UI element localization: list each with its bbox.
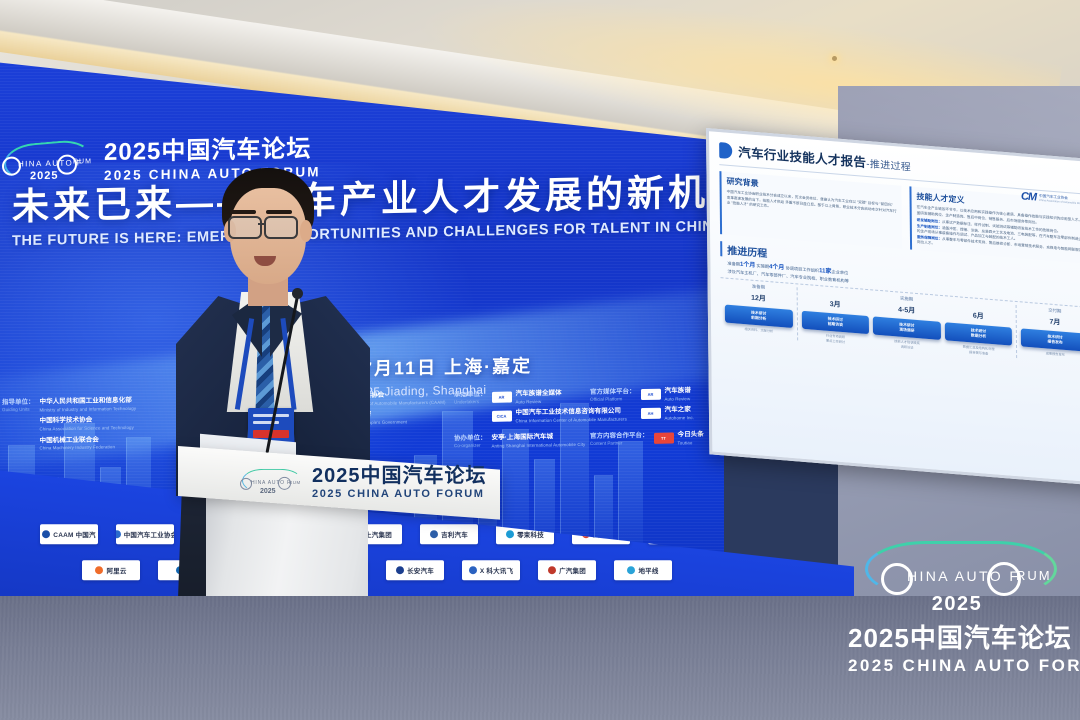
timeline-sub-tail2: 企业单位 <box>831 269 848 275</box>
watermark-mark-text-2: RUM <box>1016 568 1052 583</box>
sponsor-logo-tile: 地平线 <box>614 560 672 580</box>
credit-org-cn: 中国科学技术协会 <box>40 417 93 425</box>
credit-label-cn: 承办单位： <box>454 391 487 399</box>
credit-label: 承办单位： Undertakers <box>454 391 487 405</box>
credit-label: 官方内容合作平台： Content Partner <box>590 432 649 447</box>
forum-mark-text-2: RUM <box>73 158 92 165</box>
timeline-sub-mid: 实施期 <box>756 263 769 269</box>
credit-org-en: Auto Review <box>516 398 562 405</box>
credit-org-cn: 汽车族谱 <box>665 387 691 394</box>
credit-org-cn: 今日头条 <box>678 431 704 438</box>
credit-label-en: Content Partner <box>590 440 649 447</box>
slide-title-suffix: -推进过程 <box>866 159 911 174</box>
sponsor-logo-tile: 中国汽车工业协会 <box>116 524 174 544</box>
timeline-month: 6月 <box>944 308 1012 323</box>
credit-org-cn: 汽车之家 <box>665 406 691 413</box>
sponsor-logo-name: CAAM 中国汽 <box>53 529 95 539</box>
timeline-note: 数据汇总及结构化处理报告撰写准备 <box>945 344 1013 358</box>
podium-branding: HINA AUTO F RUM 2025 2025中国汽车论坛 2025 CHI… <box>178 458 500 508</box>
credit-label-en: Undertakers <box>454 399 487 405</box>
podium-title-cn: 2025中国汽车论坛 <box>312 466 487 486</box>
sponsor-logo-name: X 科大讯飞 <box>480 565 513 575</box>
microphone-head-icon <box>292 288 303 299</box>
podium-logo-mark-icon: HINA AUTO F RUM 2025 <box>240 469 302 497</box>
eyeglasses-right-lens <box>264 216 298 239</box>
credit-org: 汽车族谱全媒体 Auto Review <box>516 390 562 405</box>
timeline-note: 行业专项调研重点工作研讨 <box>802 332 870 346</box>
timeline-phase: 准备期12月技术研讨前期分析相关资料、文献分析 <box>721 281 797 340</box>
eyeglasses-bridge <box>258 223 266 225</box>
credit-org-cn: 汽车族谱全媒体 <box>516 390 562 398</box>
ceiling-downlight <box>832 56 837 61</box>
watermark-mark-text: HINA AUTO F <box>907 568 1020 584</box>
eyebrow-right <box>266 210 292 214</box>
credit-column-guiding: 指导单位： Guiding Units 中华人民共和国工业和信息化部 Minis… <box>2 397 136 459</box>
credit-org: 中华人民共和国工业和信息化部 Ministry of Industry and … <box>40 397 137 413</box>
sponsor-logo-tile: 吉利汽车 <box>420 524 478 544</box>
credit-label-cn: 官方内容合作平台： <box>590 432 649 440</box>
presentation-screen: 汽车行业技能人才报告-推进过程 CM 中国汽车工业协会 China Associ… <box>706 128 1080 486</box>
sponsor-logo-name: 阿里云 <box>106 565 126 575</box>
credit-org-chip: TT <box>654 433 674 444</box>
sponsor-logo-name: 长安汽车 <box>407 565 434 575</box>
credit-org-en: Auto Review <box>665 396 691 402</box>
timeline-note: 技能人才现状摸底调研访谈 <box>873 338 941 352</box>
credit-org-cn: 中华人民共和国工业和信息化部 <box>40 397 132 406</box>
backdrop-logo-title-cn: 2025中国汽车论坛 <box>104 137 321 165</box>
credit-org-en: China Machinery Industry Federation <box>40 444 137 451</box>
credit-org: 中国科学技术协会 China Association for Science a… <box>40 416 137 432</box>
timeline-sub-prefix: 准备期 <box>727 261 740 267</box>
credit-label: 协办单位： Co-organizer <box>454 435 487 449</box>
sponsor-logo-icon <box>627 566 635 574</box>
timeline-milestone-chip: 技术研讨报告发布 <box>1021 329 1080 353</box>
timeline-cell: 7月技术研讨报告发布成果报告发布 <box>1019 311 1080 360</box>
sponsor-logo-tile: CAAM 中国汽 <box>40 524 98 544</box>
forum-mark-year: 2025 <box>30 170 58 182</box>
timeline-milestone-chip: 技术研讨数据分析 <box>945 322 1013 346</box>
credit-column-coorganizer: 协办单位： Co-organizer 安亭·上海国际汽车城 Anting Sha… <box>454 433 585 457</box>
timeline-sub-tail: 协调项目工作组织 <box>786 265 820 273</box>
credit-org: 今日头条 Toutiao <box>678 431 704 446</box>
sponsor-logo-name: 上汽集团 <box>365 529 392 539</box>
sponsor-logo-tile: X 科大讯飞 <box>462 560 520 580</box>
credit-org-chip: AR <box>641 389 661 400</box>
sponsor-logo-icon <box>42 530 50 538</box>
credit-column-platform: 官方媒体平台： Official Platform AR 汽车族谱 Auto R… <box>590 387 694 429</box>
corner-watermark-logo: HINA AUTO F RUM 2025 2025中国汽车论坛 2025 CHI… <box>848 541 1066 676</box>
timeline-month: 12月 <box>725 291 793 306</box>
caam-org-name: 中国汽车工业协会 China Association of Automobile… <box>1039 194 1080 206</box>
credit-label-cn: 协办单位： <box>454 435 487 443</box>
sponsor-logo-name: 中国汽车工业协会 <box>124 529 174 539</box>
timeline-milestone-chip: 技术研讨前期访谈 <box>801 311 869 335</box>
credit-label: 官方媒体平台： Official Platform <box>590 388 636 403</box>
timeline-sub-m2: 4个月 <box>769 264 784 271</box>
credit-org-cn: 中国机械工业联合会 <box>40 436 99 444</box>
credit-label-en: Official Platform <box>590 396 636 403</box>
forum-logo-mark-icon: HINA AUTO F RUM 2025 <box>2 141 90 185</box>
eyeglasses-left-lens <box>228 216 262 239</box>
timeline-sub-m3: 11家 <box>819 268 831 275</box>
slide-timeline: 推进历程 准备期1个月 实施期4个月 协调项目工作组织11家企业单位 涉及汽车主… <box>720 241 1080 365</box>
sponsor-logo-icon <box>469 566 477 574</box>
credit-org: 安亭·上海国际汽车城 Anting Shanghai International… <box>492 433 586 449</box>
timeline-phase: 交付期7月技术研讨报告发布成果报告发布 <box>1016 305 1080 364</box>
podium-mark-text-2: RUM <box>289 480 301 485</box>
credit-org-en: Anting Shanghai International Automobile… <box>492 441 586 448</box>
timeline-note: 成果报告发布 <box>1021 350 1080 360</box>
credit-org: 汽车族谱 Auto Review <box>665 387 691 402</box>
sponsor-logo-name: 地平线 <box>638 565 658 575</box>
slide-bullet-icon <box>719 142 732 159</box>
sponsor-logo-name: 广汽集团 <box>559 565 586 575</box>
sponsor-logo-icon <box>95 566 103 574</box>
sponsor-logo-name: 零束科技 <box>517 529 544 539</box>
sponsor-logo-icon <box>396 566 404 574</box>
timeline-cell: 6月技术研讨数据分析数据汇总及结构化处理报告撰写准备 <box>942 305 1014 358</box>
credit-label-en: Guiding Units <box>2 407 35 413</box>
credit-org-chip: AR <box>492 392 512 403</box>
eyebrow-left <box>230 210 256 214</box>
sponsor-logo-tile: 长安汽车 <box>386 560 444 580</box>
credit-org-chip: CICA <box>492 411 512 422</box>
ear-right <box>300 220 312 242</box>
credit-label-cn: 指导单位： <box>2 399 35 407</box>
slide-title: 汽车行业技能人才报告-推进过程 <box>738 142 911 175</box>
slide-content: 汽车行业技能人才报告-推进过程 CM 中国汽车工业协会 China Associ… <box>709 131 1080 483</box>
sponsor-logo-tile: 广汽集团 <box>538 560 596 580</box>
sponsor-logo-name: 吉利汽车 <box>441 529 468 539</box>
podium-mark-year: 2025 <box>260 488 276 495</box>
sponsor-logo-tile: 阿里云 <box>82 560 140 580</box>
caam-mark-icon: CM <box>1021 190 1036 203</box>
conference-photo-scene: HINA AUTO F RUM 2025 2025中国汽车论坛 2025 CHI… <box>0 0 1080 720</box>
sponsor-logo-icon <box>548 566 556 574</box>
podium-title-en: 2025 CHINA AUTO FORUM <box>312 488 487 500</box>
timeline-milestone-chip: 技术研讨前期分析 <box>725 305 793 329</box>
timeline-milestone-chip: 技术研讨现场调研 <box>873 317 941 341</box>
timeline-cell: 12月技术研讨前期分析相关资料、文献分析 <box>723 288 795 337</box>
credit-org-en: China Association for Science and Techno… <box>40 425 137 432</box>
timeline-note: 相关资料、文献分析 <box>725 326 793 336</box>
timeline-sub-m1: 1个月 <box>740 262 755 269</box>
watermark-title-en: 2025 CHINA AUTO FORUM <box>848 656 1066 676</box>
watermark-title-cn: 2025中国汽车论坛 <box>848 618 1066 655</box>
credit-org-en: Ministry of Industry and Information Tec… <box>40 405 137 412</box>
timeline-month: 3月 <box>801 297 869 312</box>
credit-org-en: Autohome Inc. <box>665 415 695 421</box>
sponsor-logo-icon <box>116 530 121 538</box>
credit-column-content-partner: 官方内容合作平台： Content Partner TT 今日头条 Toutia… <box>590 431 704 454</box>
timeline-cell: 4-5月技术研讨现场调研技能人才现状摸底调研访谈 <box>871 300 943 353</box>
credit-org-cn: 安亭·上海国际汽车城 <box>492 433 554 441</box>
timeline-cell: 3月技术研讨前期访谈行业专项调研重点工作研讨 <box>799 294 871 347</box>
sponsor-logo-icon <box>506 530 514 538</box>
credit-label-cn: 官方媒体平台： <box>590 388 636 396</box>
credit-org: 中国机械工业联合会 China Machinery Industry Feder… <box>40 435 137 451</box>
watermark-mark-icon: HINA AUTO F RUM <box>857 541 1057 595</box>
podium-mark-text: HINA AUTO F <box>251 480 291 486</box>
credit-org-chip: AH <box>641 408 661 419</box>
timeline-month: 7月 <box>1021 315 1080 330</box>
timeline-month: 4-5月 <box>873 303 941 318</box>
credit-label: 指导单位： Guiding Units <box>2 399 35 413</box>
credit-org: 汽车之家 Autohome Inc. <box>665 406 695 421</box>
slide-card-research-background: 研究背景 中国汽车工业协会职业技术分会成立以来，历次会员单位、普遍认为汽车工业在… <box>719 171 902 249</box>
timeline-phase: 实施期3月技术研讨前期访谈行业专项调研重点工作研讨4-5月技术研讨现场调研技能人… <box>796 288 1016 359</box>
credit-org-en: Toutiao <box>678 440 704 446</box>
sponsor-logo-icon <box>430 530 438 538</box>
credit-label-en: Co-organizer <box>454 443 487 449</box>
